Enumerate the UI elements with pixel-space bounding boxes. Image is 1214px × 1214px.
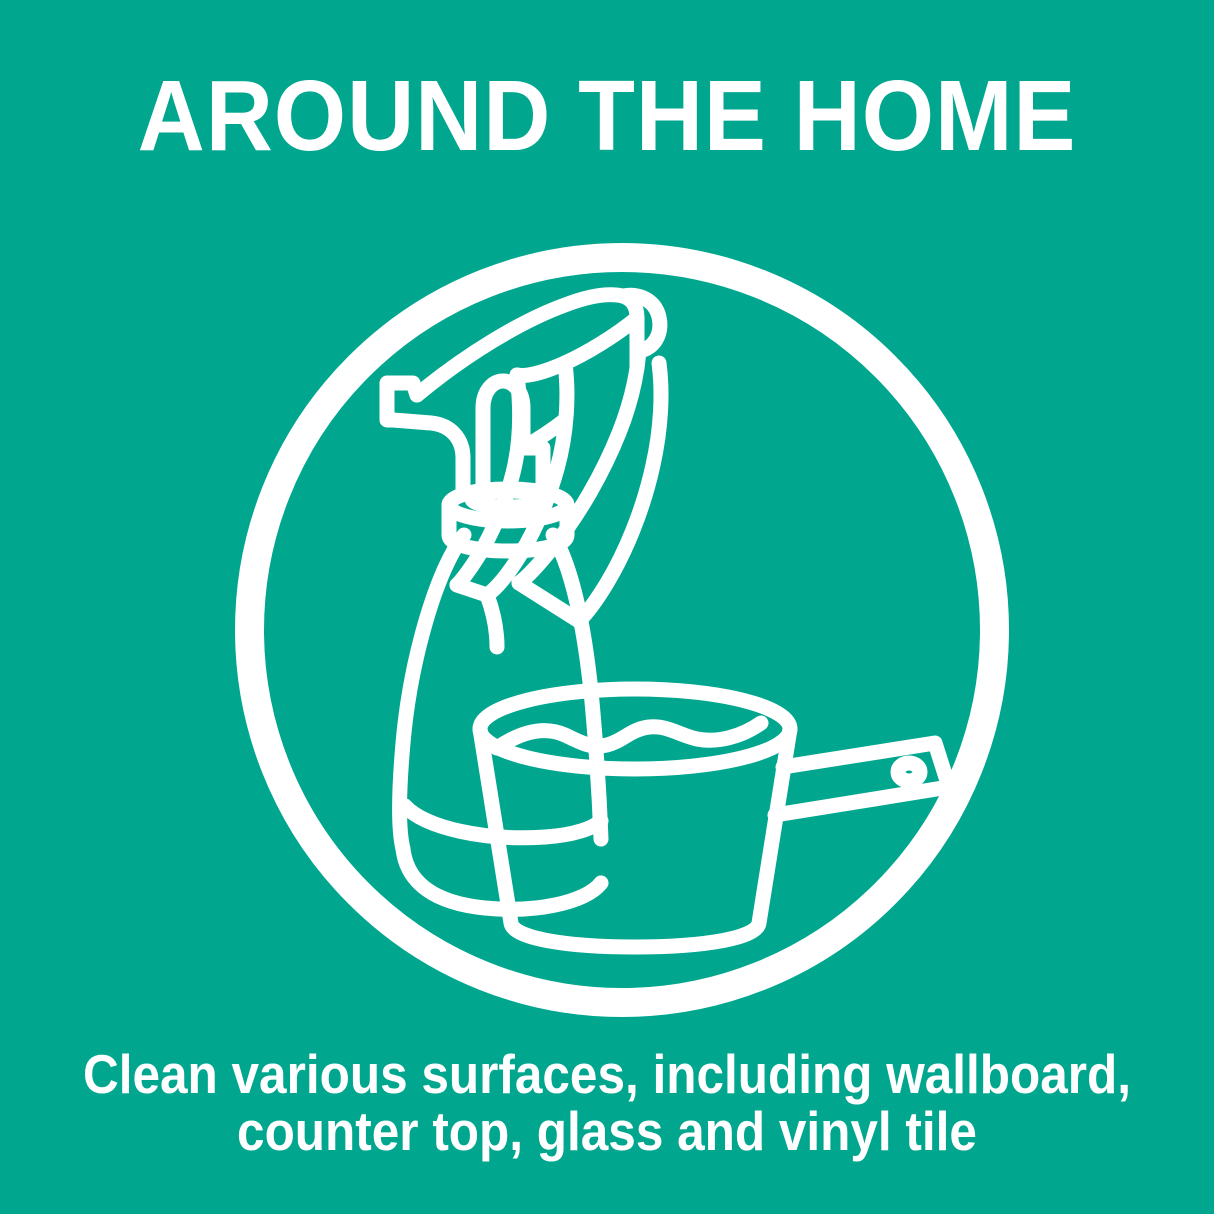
nozzle-head-inner-curve: [517, 318, 637, 375]
nozzle-head-left-wall: [393, 420, 463, 489]
trigger-return-spring: [487, 595, 497, 647]
caption-block: Clean various surfaces, including wallbo…: [61, 1046, 1154, 1160]
page-title: AROUND THE HOME: [42, 60, 1171, 172]
icon-line-art: [387, 295, 949, 947]
around-the-home-feature-panel: AROUND THE HOME: [0, 0, 1214, 1214]
caption-line-2: counter top, glass and vinyl tile: [61, 1103, 1154, 1160]
cup-liquid-surface: [497, 723, 761, 748]
icon-artwork: [235, 243, 1009, 1017]
circle-frame: [250, 258, 995, 1003]
caption-line-1: Clean various surfaces, including wallbo…: [61, 1046, 1154, 1103]
cup-handle-hole: [898, 763, 920, 781]
spray-bottle-and-measuring-cup-icon: [235, 243, 1009, 1017]
